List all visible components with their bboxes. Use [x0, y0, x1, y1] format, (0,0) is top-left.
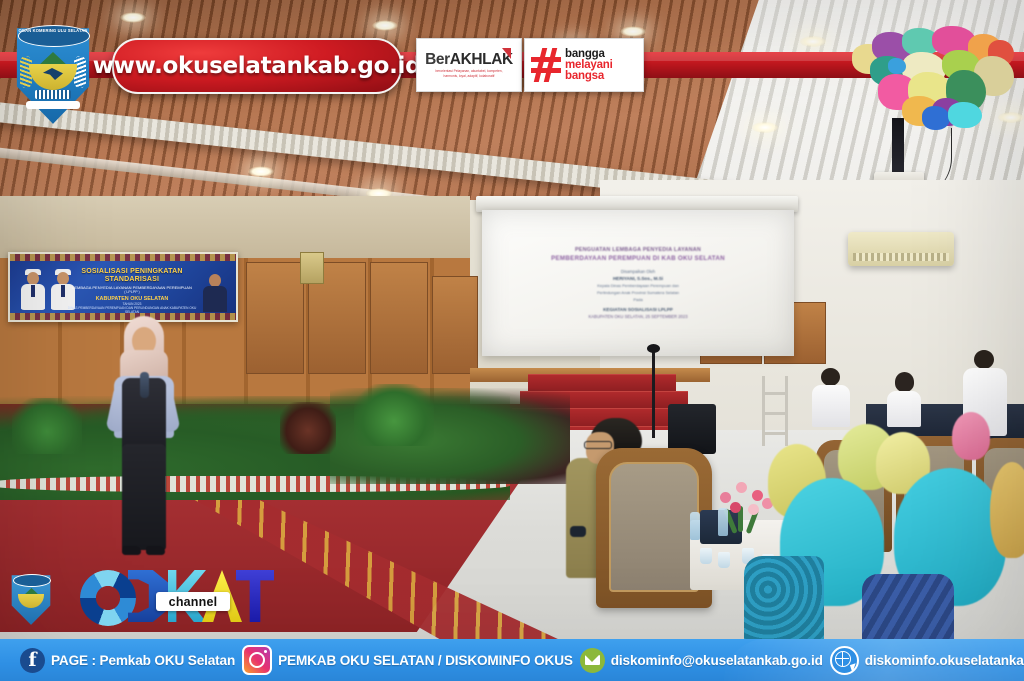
facebook-text: PAGE : Pemkab OKU Selatan [51, 653, 235, 668]
audience-woman-hijab [990, 462, 1024, 558]
banner-top-border [10, 254, 236, 261]
slide-line-3: Disampaikan Oleh [621, 269, 655, 274]
cursor-icon [850, 663, 858, 672]
audience-batik-clothing [862, 574, 954, 640]
female-speaker [96, 316, 192, 566]
bangga-line-3: bangsa [565, 71, 613, 82]
slide-line-4: HERIYANI, S.Sos., M.Si [613, 276, 663, 281]
slide-line-2: PEMBERDAYAAN PEREMPUAN DI KAB OKU SELATA… [551, 255, 725, 262]
projection-screen: PENGUATAN LEMBAGA PENYEDIA LAYANAN PEMBE… [482, 210, 794, 356]
dkat-channel-badge: channel [156, 592, 230, 611]
banner-subtitle-2: ( LPLPP ) [62, 290, 202, 294]
wristwatch [570, 526, 586, 537]
handheld-microphone [140, 372, 149, 398]
drinking-glass [718, 552, 730, 568]
instagram-icon [242, 645, 272, 675]
website-url-text: www.okuselatankab.go.id [93, 53, 422, 79]
audience-batik-clothing [744, 556, 824, 640]
dkat-channel-text: channel [169, 595, 218, 609]
plant-palm [354, 384, 434, 446]
ceiling-downlight [372, 20, 398, 31]
email-icon [580, 648, 605, 673]
berakhlak-tagline-2: harmonis, loyal, adaptif, kolaboratif [444, 74, 495, 78]
speaker-trousers [122, 444, 166, 550]
berakhlak-logo: BerAKHLAK berorientasi Pelayanan, akunta… [416, 38, 522, 92]
flower [736, 482, 747, 493]
wall-decor-plaque [300, 252, 324, 284]
wall-door-panel [370, 262, 428, 374]
berakhlak-akhlak: AKHLAK [450, 51, 513, 68]
footer-instagram-item[interactable]: PEMKAB OKU SELATAN / DISKOMINFO OKUS [242, 645, 573, 675]
map-region [888, 58, 906, 74]
audience-woman-hijab [952, 412, 990, 460]
crest-ring-text: OGAN KOMERING ULU SELATAN [18, 28, 88, 33]
banner-speaker-portrait [202, 270, 230, 314]
plant-red-leaf [280, 402, 336, 454]
staff-white-shirt [810, 368, 850, 426]
flower [730, 502, 741, 513]
slide-line-7: Pada [633, 297, 642, 302]
map-region [948, 102, 982, 128]
banner-text-block: SOSIALISASI PENINGKATAN STANDARISASI LEM… [62, 268, 202, 314]
staff-female-white-shirt [886, 372, 922, 426]
speaker-shoe [122, 546, 141, 555]
ceiling-downlight [800, 36, 826, 47]
map-region [922, 106, 950, 130]
broadcast-screenshot: PENGUATAN LEMBAGA PENYEDIA LAYANAN PEMBE… [0, 0, 1024, 681]
bangga-line-2: melayani [565, 60, 613, 71]
speaker-shoe [146, 546, 165, 555]
website-icon [830, 646, 859, 675]
plant-palm [12, 398, 82, 454]
footer-email-item[interactable]: diskominfo@okuselatankab.go.id [580, 648, 823, 673]
slide-line-9: KABUPATEN OKU SELATAN, 25 SEPTEMBER 2023 [588, 314, 687, 319]
berakhlak-ber: Ber [425, 51, 450, 68]
dkat-letter-t [236, 570, 274, 622]
flower [752, 490, 763, 501]
district-map-icon [846, 22, 1018, 132]
footer-facebook-item[interactable]: f PAGE : Pemkab OKU Selatan [20, 648, 235, 673]
contact-footer-bar: f PAGE : Pemkab OKU Selatan PEMKAB OKU S… [0, 639, 1024, 681]
website-url-pill[interactable]: www.okuselatankab.go.id [112, 38, 402, 94]
facebook-icon: f [20, 648, 45, 673]
slide-line-6: Perlindungan Anak Provinsi Sumatera Sela… [597, 290, 679, 295]
flower [748, 504, 759, 515]
wall-door-panel [246, 262, 304, 374]
banner-title: SOSIALISASI PENINGKATAN STANDARISASI [62, 268, 202, 284]
ceiling-downlight [248, 166, 274, 177]
event-stage-banner: SOSIALISASI PENINGKATAN STANDARISASI LEM… [8, 252, 238, 322]
presentation-slide: PENGUATAN LEMBAGA PENYEDIA LAYANAN PEMBE… [482, 210, 794, 356]
footer-website-item[interactable]: diskominfo.okuselatankab.go.id [830, 646, 1024, 675]
water-bottle [690, 512, 700, 540]
bangga-melayani-bangsa-logo: bangga melayani bangsa [524, 38, 644, 92]
flower [720, 492, 731, 503]
ceiling-downlight [620, 26, 646, 37]
bangga-line-1: bangga [565, 49, 613, 60]
oku-selatan-crest-icon: OGAN KOMERING ULU SELATAN [10, 22, 96, 126]
banner-official-portrait [20, 268, 46, 310]
dkat-swirl-icon [80, 570, 136, 626]
slide-line-5: Kepala Dinas Pemberdayaan Perempuan dan [597, 283, 679, 288]
banner-organizer: DINAS PEMBERDAYAAN PEREMPUAN DAN PERLIND… [62, 306, 202, 314]
water-bottle [718, 508, 728, 536]
berakhlak-wordmark: BerAKHLAK [425, 52, 513, 68]
step-ladder [762, 376, 788, 446]
slide-line-8: KEGIATAN SOSIALISASI LPLPP [603, 307, 673, 312]
wall-door-panel [432, 276, 478, 374]
email-text: diskominfo@okuselatankab.go.id [611, 653, 823, 668]
ceiling-downlight [120, 12, 146, 23]
slide-line-1: PENGUATAN LEMBAGA PENYEDIA LAYANAN [575, 247, 701, 253]
berakhlak-tagline-1: berorientasi Pelayanan, akuntabel, kompe… [435, 69, 502, 73]
drinking-glass [700, 548, 712, 564]
hashtag-icon [531, 48, 561, 82]
website-text: diskominfo.okuselatankab.go.id [865, 653, 1024, 668]
air-conditioner [848, 232, 954, 266]
dkat-channel-logo: channel [4, 560, 272, 626]
instagram-text: PEMKAB OKU SELATAN / DISKOMINFO OKUS [278, 653, 573, 668]
bangga-wordmark: bangga melayani bangsa [565, 49, 613, 82]
ceiling-downlight [752, 122, 778, 133]
